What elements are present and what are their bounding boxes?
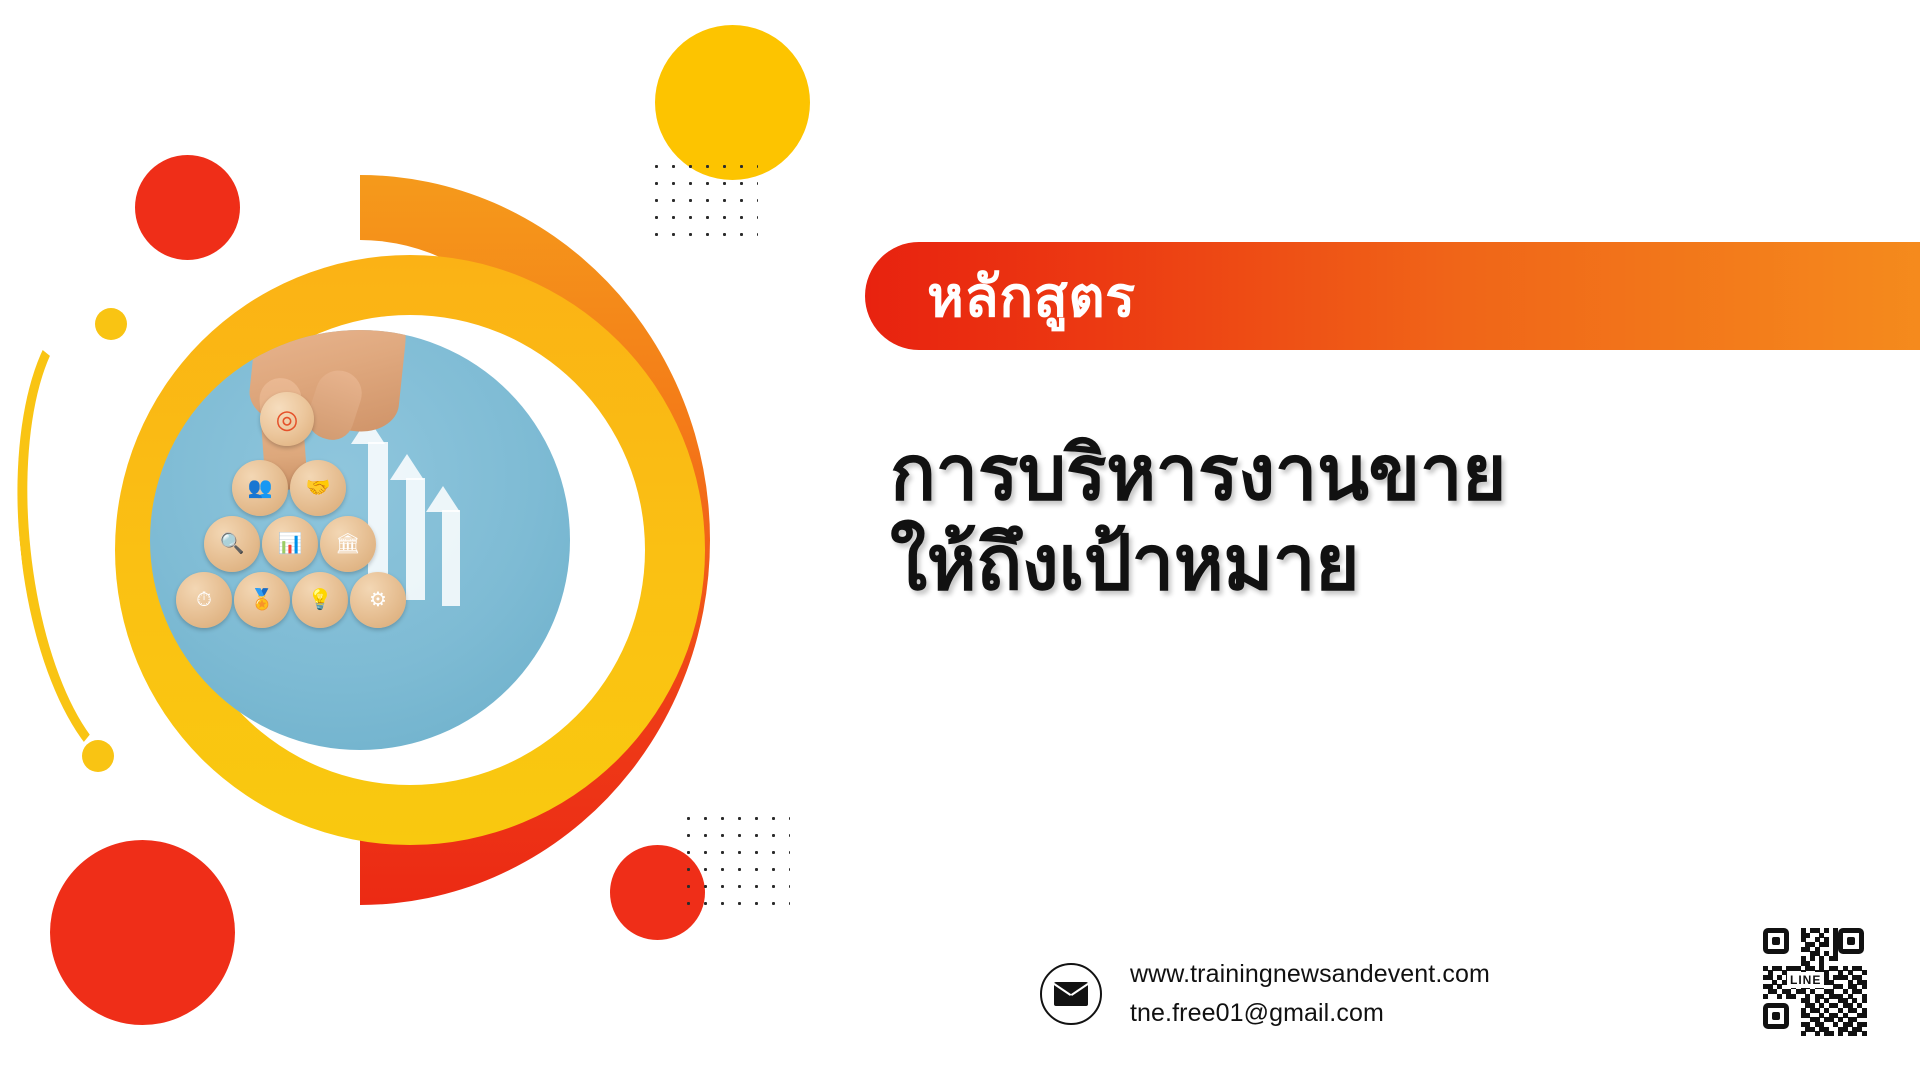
coin-clock-icon: ⏱: [176, 572, 232, 628]
page-title: การบริหารงานขาย ให้ถึงเป้าหมาย: [890, 428, 1890, 607]
coin-badge-icon: 🏅: [234, 572, 290, 628]
envelope-icon: [1040, 963, 1102, 1025]
contact-details: www.trainingnewsandevent.com tne.free01@…: [1130, 955, 1490, 1033]
business-goal-wooden-blocks-photo: ◎ 👥 🤝 🔍 📊 🏛 ⏱ 🏅 💡 ⚙: [150, 330, 570, 750]
decor-arc-cap-top: [95, 308, 127, 340]
contact-website[interactable]: www.trainingnewsandevent.com: [1130, 955, 1490, 994]
contact-email[interactable]: tne.free01@gmail.com: [1130, 994, 1490, 1033]
decor-circle-yellow-top: [655, 25, 810, 180]
coin-bank-icon: 🏛: [320, 516, 376, 572]
coin-chart-icon: 📊: [262, 516, 318, 572]
coin-people-icon: 👥: [232, 460, 288, 516]
coin-gears-icon: ⚙: [350, 572, 406, 628]
decor-circle-red-bottom: [50, 840, 235, 1025]
coin-bulb-icon: 💡: [292, 572, 348, 628]
coin-target-icon: ◎: [260, 392, 314, 446]
course-badge: หลักสูตร: [865, 242, 1920, 350]
decor-circle-red-top: [135, 155, 240, 260]
decor-dot-grid-bottom: [680, 810, 790, 915]
page-title-line-2: ให้ถึงเป้าหมาย: [890, 518, 1890, 608]
decor-dot-grid-top: [648, 158, 758, 246]
page-title-line-1: การบริหารงานขาย: [890, 428, 1890, 518]
decor-arc-cap-bottom: [82, 740, 114, 772]
course-badge-label: หลักสูตร: [927, 252, 1136, 341]
poster-canvas: ◎ 👥 🤝 🔍 📊 🏛 ⏱ 🏅 💡 ⚙ หลักสูตร การบริหารงา…: [0, 0, 1920, 1080]
line-qr-code[interactable]: LINE: [1763, 928, 1871, 1040]
coin-handshake-icon: 🤝: [290, 460, 346, 516]
contact-footer: www.trainingnewsandevent.com tne.free01@…: [1040, 955, 1490, 1033]
coin-search-icon: 🔍: [204, 516, 260, 572]
qr-label: LINE: [1787, 972, 1824, 988]
